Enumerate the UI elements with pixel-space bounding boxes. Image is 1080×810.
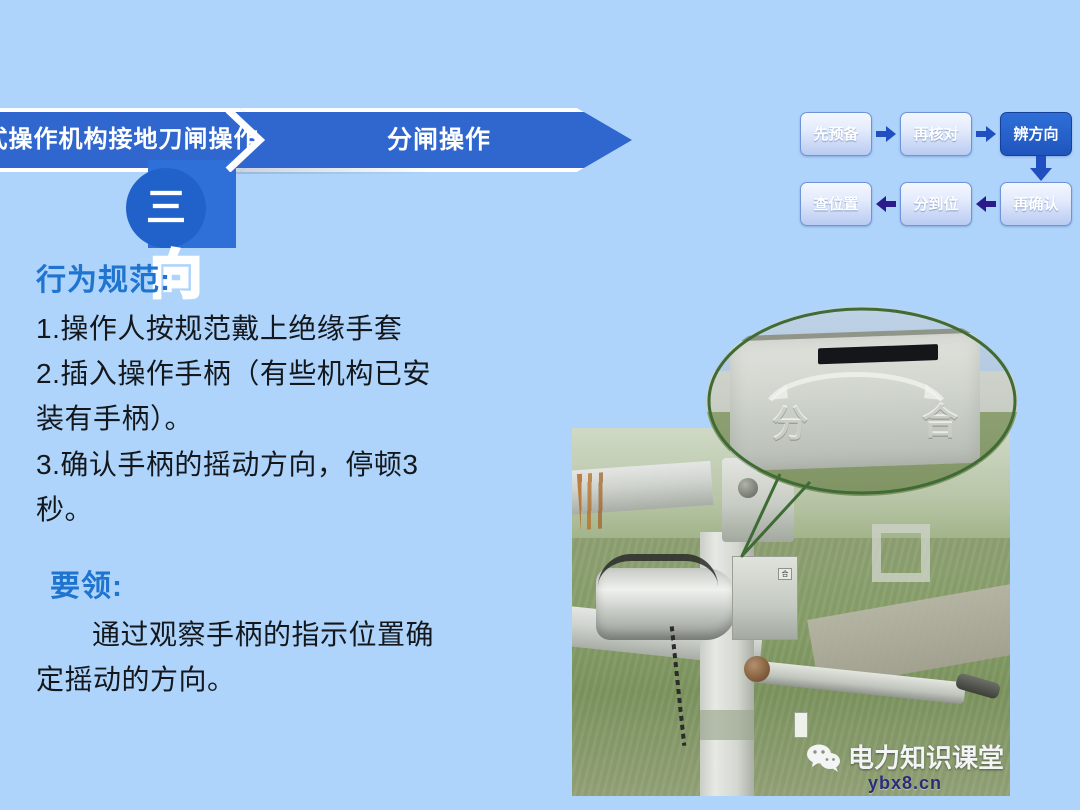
- badge-label: 三: [146, 188, 186, 228]
- photo-cable: [598, 554, 718, 587]
- flow-step-label: 再核对: [913, 127, 958, 142]
- flow-step-identify-direction[interactable]: 辨方向: [1000, 112, 1072, 156]
- photo-far-structure: [872, 524, 930, 582]
- step-line: 装有手柄）。: [36, 396, 536, 441]
- flow-step-prepare[interactable]: 先预备: [800, 112, 872, 156]
- flow-arrow-left-icon: [872, 196, 900, 212]
- flow-step-label: 分到位: [913, 197, 958, 212]
- slide-canvas: 式操作机构接地刀闸操作 分闸操作 三 向 行为规范: 1.操作人按规范戴上绝缘手…: [0, 0, 1080, 810]
- procedure-flow-chart: 先预备 再核对 辨方向 查位置: [800, 112, 1072, 236]
- step-line: 3.确认手柄的摇动方向，停顿3: [36, 442, 536, 487]
- flow-step-reconfirm[interactable]: 再确认: [1000, 182, 1072, 226]
- photo-inline-nameplate: 合: [778, 568, 792, 580]
- step-line: 2.插入操作手柄（有些机构已安: [36, 351, 536, 396]
- section-badge: 三: [126, 160, 236, 248]
- watermark-title: 电力知识课堂: [848, 745, 1004, 771]
- photo-bolt: [738, 478, 758, 498]
- flow-row-bottom: 查位置 分到位 再确认: [800, 182, 1072, 226]
- photo-crank-hub: [744, 656, 770, 682]
- flow-step-check-position[interactable]: 查位置: [800, 182, 872, 226]
- callout-slot: [818, 344, 938, 364]
- flow-row-top: 先预备 再核对 辨方向: [800, 112, 1072, 156]
- banner-subtitle-label: 分闸操作: [387, 128, 491, 153]
- photo-post-band: [700, 710, 754, 740]
- photo-watermark: 电力知识课堂 ybx8.cn: [806, 743, 1004, 792]
- flow-step-label: 查位置: [813, 197, 858, 212]
- flow-arrow-down-icon: [1028, 156, 1054, 182]
- behavior-rules-heading: 行为规范:: [36, 262, 536, 300]
- title-banner: 式操作机构接地刀闸操作 分闸操作: [0, 108, 632, 172]
- step-line: 秒。: [36, 487, 536, 532]
- flow-step-recheck[interactable]: 再核对: [900, 112, 972, 156]
- wechat-icon: [806, 743, 842, 773]
- watermark-url: ybx8.cn: [868, 774, 942, 792]
- flow-step-label: 先预备: [813, 127, 858, 142]
- photo-padlock-tag: [794, 712, 808, 738]
- key-points-heading: 要领:: [50, 568, 536, 606]
- flow-arrow-left-icon: [972, 196, 1000, 212]
- key-point-line: 定摇动的方向。: [36, 657, 536, 702]
- flow-step-label: 再确认: [1013, 197, 1058, 212]
- photo-rust-stain: [577, 470, 641, 530]
- key-point-line: 通过观察手柄的指示位置确: [36, 612, 536, 657]
- equipment-photo: 合 电: [572, 428, 1010, 796]
- slide-bottom-edge: [0, 796, 1080, 810]
- flow-step-open-complete[interactable]: 分到位: [900, 182, 972, 226]
- callout-direction-arrow-icon: [756, 364, 956, 410]
- banner-segment-subtitle: 分闸操作: [240, 108, 632, 172]
- left-content-column: 行为规范: 1.操作人按规范戴上绝缘手套 2.插入操作手柄（有些机构已安 装有手…: [36, 262, 536, 703]
- photo-mechanism-head: [722, 458, 794, 542]
- callout-sky: [706, 306, 1018, 371]
- flow-step-label: 辨方向: [1013, 127, 1058, 142]
- flow-arrow-right-icon: [972, 126, 1000, 142]
- banner-title-label: 式操作机构接地刀闸操作: [0, 128, 259, 152]
- step-line: 1.操作人按规范戴上绝缘手套: [36, 306, 536, 351]
- flow-arrow-right-icon: [872, 126, 900, 142]
- badge-circle: 三: [126, 168, 206, 248]
